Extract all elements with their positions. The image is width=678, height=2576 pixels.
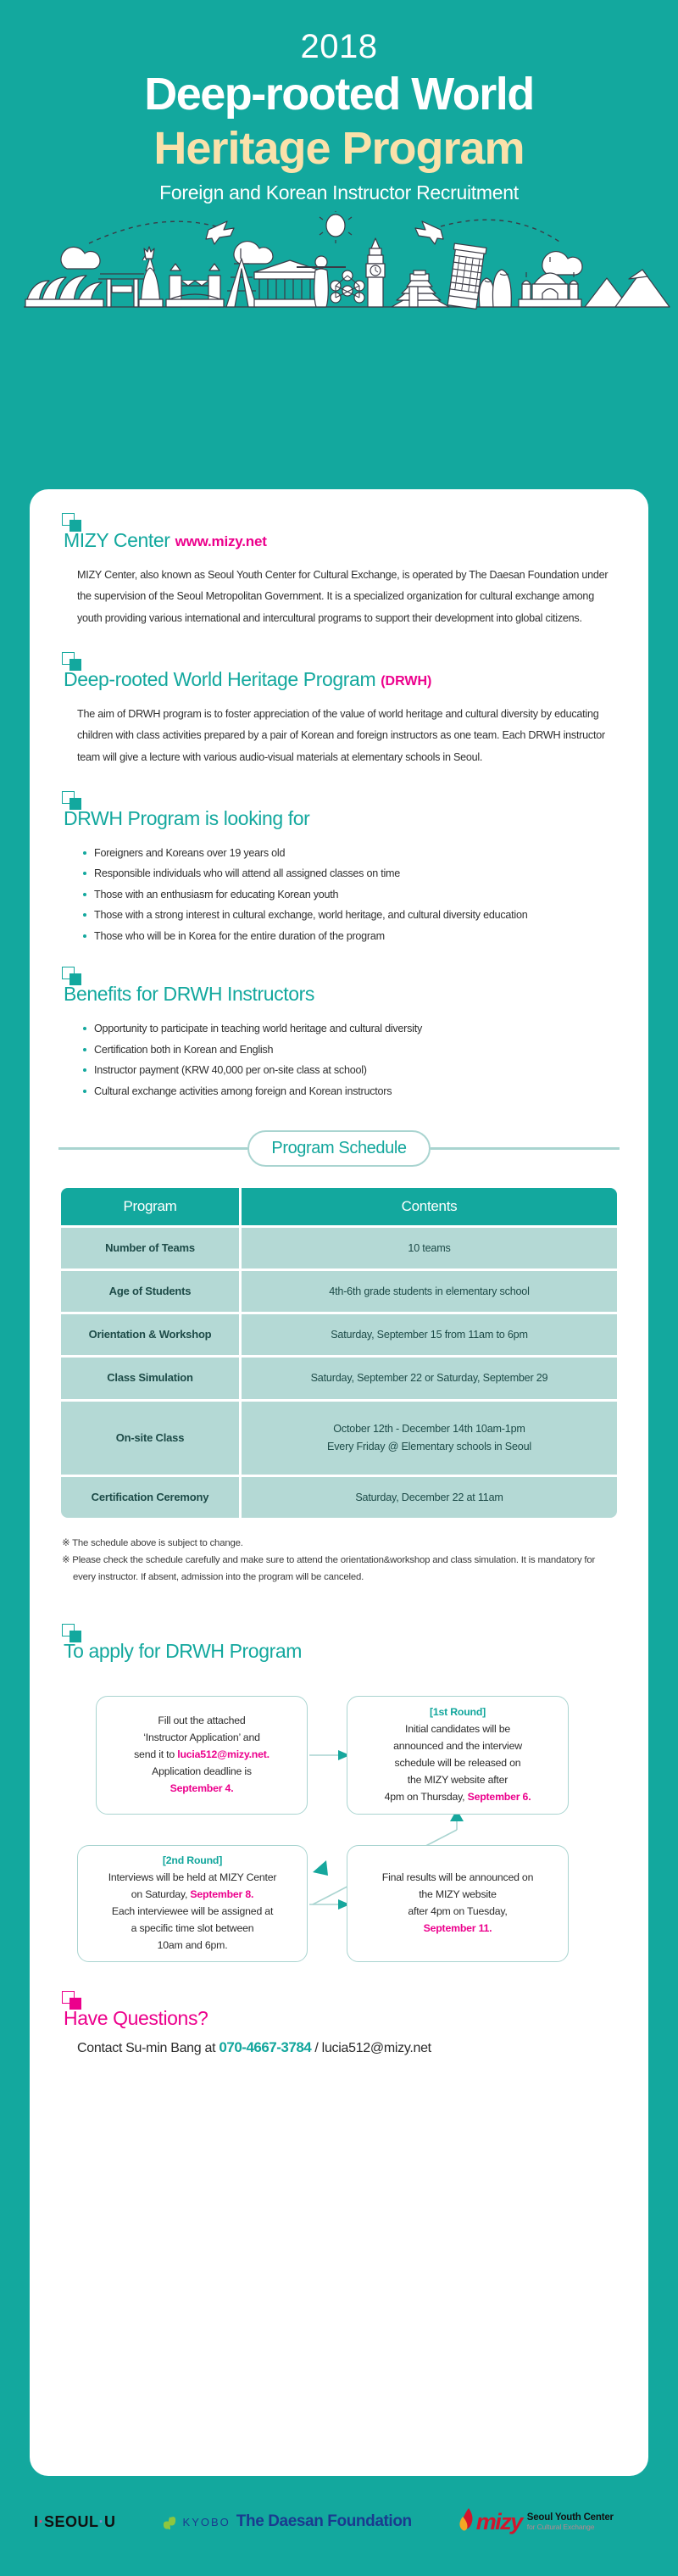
step1-email[interactable]: lucia512@mizy.net.	[177, 1748, 270, 1760]
contact-line: Contact Su-min Bang at 070-4667-3784 / l…	[77, 2039, 620, 2056]
step3-date: September 8.	[190, 1888, 253, 1900]
hero-year: 2018	[0, 29, 678, 64]
step1-deadline-date: September 4.	[170, 1782, 234, 1794]
note-item: ※ The schedule above is subject to chang…	[62, 1536, 620, 1553]
row-value: Saturday, December 22 at 11am	[242, 1477, 617, 1518]
mizy-subtitle-line1: Seoul Youth Center	[527, 2512, 614, 2523]
contact-phone[interactable]: 070-4667-3784	[219, 2039, 311, 2055]
drwh-title-text: Deep-rooted World Heritage Program	[64, 668, 375, 690]
row-label: On-site Class	[61, 1402, 239, 1475]
square-bullet-icon	[62, 652, 84, 671]
square-bullet-icon	[62, 513, 84, 532]
schedule-notes: ※ The schedule above is subject to chang…	[62, 1536, 620, 1586]
table-row: Certification Ceremony Saturday, Decembe…	[61, 1477, 617, 1518]
poster-root: 2018 Deep-rooted World Heritage Program …	[0, 0, 678, 2576]
list-item: Cultural exchange activities among forei…	[82, 1081, 620, 1102]
divider-rule-left	[58, 1147, 247, 1150]
column-header-contents: Contents	[242, 1188, 617, 1225]
logo-mizy: mizy Seoul Youth Center for Cultural Exc…	[454, 2505, 614, 2539]
table-header-row: Program Contents	[61, 1188, 617, 1225]
content-card: MIZY Center www.mizy.net MIZY Center, al…	[30, 489, 648, 2476]
section-title-mizy: MIZY Center www.mizy.net	[64, 529, 620, 553]
step3-post: Each interviewee will be assigned at a s…	[112, 1905, 273, 1951]
step4-date: September 11.	[424, 1922, 492, 1934]
section-title-benefits: Benefits for DRWH Instructors	[64, 983, 620, 1006]
kyobo-wordmark: KYOBO	[183, 2516, 231, 2529]
list-item: Those with a strong interest in cultural…	[82, 905, 620, 926]
list-item: Opportunity to participate in teaching w…	[82, 1018, 620, 1040]
row-label: Orientation & Workshop	[61, 1314, 239, 1355]
square-bullet-icon	[62, 791, 84, 810]
drwh-acronym-tag: (DRWH)	[381, 674, 431, 689]
row-label: Age of Students	[61, 1271, 239, 1312]
seoul-u: U	[104, 2513, 116, 2530]
flow-step-application: Fill out the attached ‘Instructor Applic…	[96, 1696, 308, 1815]
looking-for-list: Foreigners and Koreans over 19 years old…	[82, 843, 620, 947]
footer-logos: I·SEOUL·U KYOBO The Daesan Foundation mi…	[0, 2493, 678, 2551]
flow-step-final-results: Final results will be announced on the M…	[347, 1845, 569, 1962]
row-value: 4th-6th grade students in elementary sch…	[242, 1271, 617, 1312]
daesan-wordmark: The Daesan Foundation	[236, 2512, 412, 2531]
list-item: Responsible individuals who will attend …	[82, 863, 620, 884]
hero-subtitle: Foreign and Korean Instructor Recruitmen…	[0, 181, 678, 204]
column-header-program: Program	[61, 1188, 239, 1225]
program-schedule-table: Program Contents Number of Teams 10 team…	[58, 1185, 620, 1520]
row-value: October 12th - December 14th 10am-1pm Ev…	[242, 1402, 617, 1475]
hero-title-line1: Deep-rooted World	[0, 68, 678, 120]
mizy-flame-icon	[454, 2505, 476, 2539]
row-value: Saturday, September 22 or Saturday, Sept…	[242, 1358, 617, 1398]
note-item: ※ Please check the schedule carefully an…	[62, 1553, 620, 1586]
benefits-list: Opportunity to participate in teaching w…	[82, 1018, 620, 1101]
step2-round-label: [1st Round]	[430, 1706, 486, 1718]
square-bullet-pink-icon	[62, 1991, 84, 2010]
section-looking-for: DRWH Program is looking for Foreigners a…	[58, 791, 620, 946]
row-value: Saturday, September 15 from 11am to 6pm	[242, 1314, 617, 1355]
section-mizy-center: MIZY Center www.mizy.net MIZY Center, al…	[58, 513, 620, 630]
list-item: Instructor payment (KRW 40,000 per on-si…	[82, 1060, 620, 1081]
row-label: Certification Ceremony	[61, 1477, 239, 1518]
arrow-head-icon	[313, 1860, 328, 1876]
step4-pre: Final results will be announced on the M…	[382, 1871, 533, 1917]
step2-date: September 6.	[468, 1791, 531, 1803]
list-item: Those who will be in Korea for the entir…	[82, 926, 620, 947]
seoul-word: SEOUL	[44, 2513, 99, 2530]
list-item: Certification both in Korean and English	[82, 1040, 620, 1061]
section-questions: Have Questions? Contact Su-min Bang at 0…	[58, 1991, 620, 2056]
mizy-url-link[interactable]: www.mizy.net	[175, 533, 267, 549]
section-title-apply: To apply for DRWH Program	[64, 1640, 620, 1664]
mizy-wordmark: mizy	[476, 2509, 522, 2535]
step3-round-label: [2nd Round]	[163, 1854, 222, 1866]
kyobo-sprout-icon	[160, 2507, 177, 2536]
list-item: Foreigners and Koreans over 19 years old	[82, 843, 620, 864]
square-bullet-icon	[62, 1624, 84, 1642]
application-flow-diagram: Fill out the attached ‘Instructor Applic…	[58, 1694, 620, 1974]
section-benefits: Benefits for DRWH Instructors Opportunit…	[58, 967, 620, 1101]
flow-step-second-round: [2nd Round]Interviews will be held at MI…	[77, 1845, 308, 1962]
list-item: Those with an enthusiasm for educating K…	[82, 884, 620, 906]
program-schedule-label: Program Schedule	[247, 1130, 430, 1167]
table-row: Orientation & Workshop Saturday, Septemb…	[61, 1314, 617, 1355]
step1-mid: Application deadline is	[152, 1765, 252, 1777]
hero-header: 2018 Deep-rooted World Heritage Program …	[0, 0, 678, 340]
divider-rule-right	[431, 1147, 620, 1150]
table-row: Class Simulation Saturday, September 22 …	[61, 1358, 617, 1398]
row-value: 10 teams	[242, 1228, 617, 1268]
questions-title: Have Questions?	[64, 2007, 620, 2031]
contact-prefix: Contact Su-min Bang at	[77, 2041, 219, 2055]
mizy-body-text: MIZY Center, also known as Seoul Youth C…	[77, 565, 620, 630]
section-drwh-program: Deep-rooted World Heritage Program (DRWH…	[58, 652, 620, 769]
section-title-looking-for: DRWH Program is looking for	[64, 807, 620, 831]
world-landmarks-skyline-illustration	[0, 211, 678, 340]
contact-suffix[interactable]: / lucia512@mizy.net	[311, 2041, 431, 2055]
row-label: Class Simulation	[61, 1358, 239, 1398]
logo-i-seoul-u: I·SEOUL·U	[34, 2513, 116, 2531]
logo-daesan-foundation: KYOBO The Daesan Foundation	[160, 2507, 412, 2536]
drwh-body-text: The aim of DRWH program is to foster app…	[77, 704, 620, 769]
table-row: Number of Teams 10 teams	[61, 1228, 617, 1268]
section-apply: To apply for DRWH Program	[58, 1624, 620, 1664]
flow-step-first-round: [1st Round]Initial candidates will be an…	[347, 1696, 569, 1815]
mizy-subtitle-line2: for Cultural Exchange	[527, 2523, 614, 2531]
program-schedule-divider: Program Schedule	[58, 1130, 620, 1167]
section-title-drwh: Deep-rooted World Heritage Program (DRWH…	[64, 668, 620, 692]
hero-title-line2: Heritage Program	[0, 122, 678, 175]
mizy-title-text: MIZY Center	[64, 529, 170, 551]
table-row: On-site Class October 12th - December 14…	[61, 1402, 617, 1475]
row-label: Number of Teams	[61, 1228, 239, 1268]
square-bullet-icon	[62, 967, 84, 985]
table-row: Age of Students 4th-6th grade students i…	[61, 1271, 617, 1312]
